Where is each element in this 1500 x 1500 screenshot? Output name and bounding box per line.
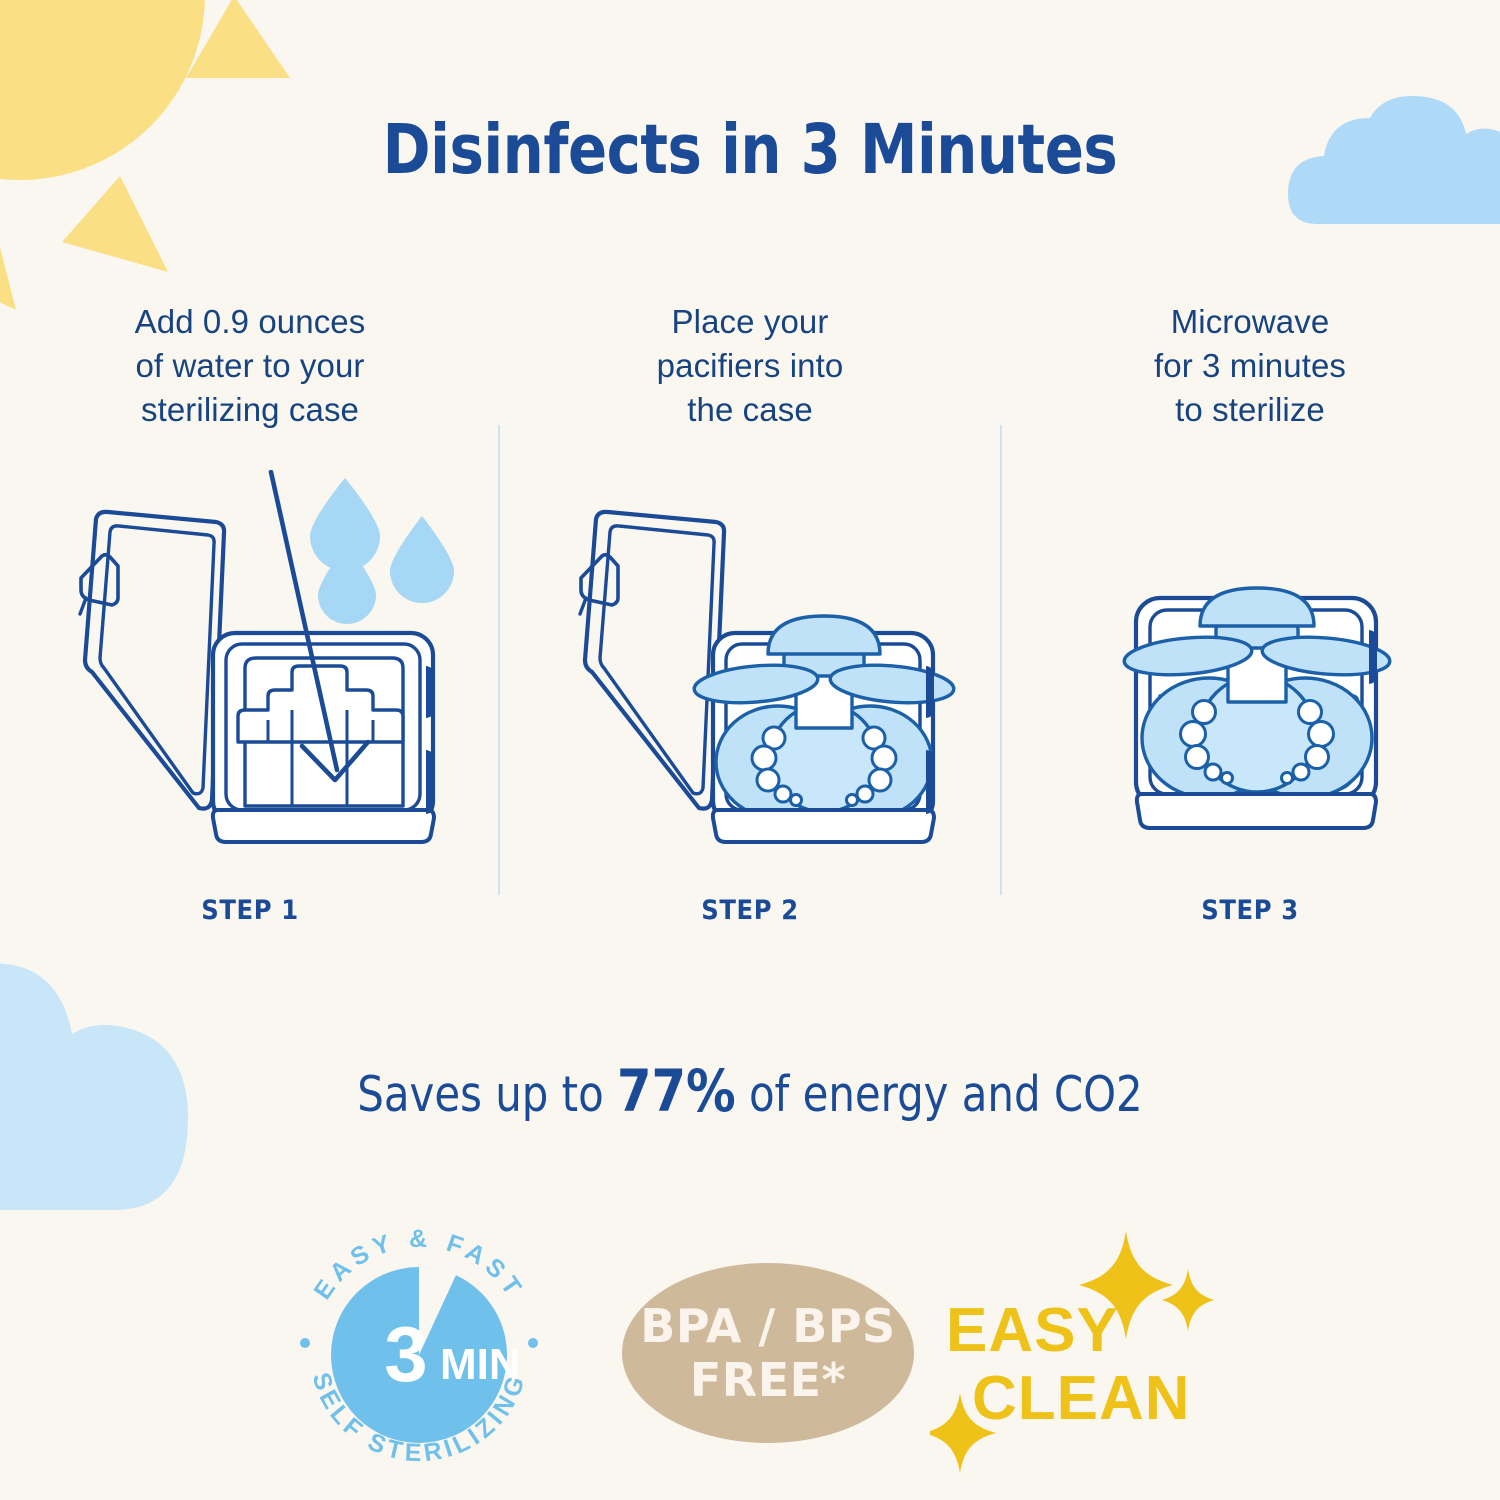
step-2-illustration [540,470,960,850]
step-3-label: STEP 3 [1201,895,1298,926]
three-minute-self-sterilizing-badge: 3 MIN EASY & FAST SELF STERILIZING [288,1221,550,1483]
savings-suffix: of energy and CO2 [736,1066,1143,1123]
bpa-badge-label: BPA / BPS FREE* [622,1263,914,1443]
step-divider [1000,425,1002,895]
step-1-column: Add 0.9 ounces of water to your steriliz… [0,300,500,940]
easy-clean-line2: CLEAN [972,1364,1191,1433]
savings-prefix: Saves up to [357,1066,617,1123]
infographic-canvas: Disinfects in 3 Minutes Add 0.9 ounces o… [0,0,1500,1500]
easy-clean-line1: EASY [946,1296,1119,1365]
step-3-caption: Microwave for 3 minutes to sterilize [1154,300,1346,432]
step-2-caption: Place your pacifiers into the case [657,300,844,432]
step-2-label: STEP 2 [701,895,798,926]
water-drop-icon [310,478,454,624]
step-3-column: Microwave for 3 minutes to sterilize [1000,300,1500,940]
savings-statement: Saves up to 77% of energy and CO2 [38,1057,1463,1125]
step-1-illustration [40,470,460,850]
case-latch-accent [1369,630,1377,684]
step-3-illustration [1046,470,1466,850]
page-title: Disinfects in 3 Minutes [53,110,1448,190]
step-1-caption: Add 0.9 ounces of water to your steriliz… [135,300,366,432]
three-min-number: 3 [384,1310,427,1398]
steps-row: Add 0.9 ounces of water to your steriliz… [0,300,1500,940]
step-2-column: Place your pacifiers into the case [500,300,1000,940]
bpa-bps-free-badge: BPA / BPS FREE* [622,1263,914,1443]
savings-percent: 77% [617,1057,736,1125]
step-divider [498,425,500,895]
badges-row: 3 MIN EASY & FAST SELF STERILIZING BPA /… [0,1215,1500,1495]
easy-clean-badge: EASY CLEAN [930,1223,1220,1481]
step-1-label: STEP 1 [201,895,298,926]
